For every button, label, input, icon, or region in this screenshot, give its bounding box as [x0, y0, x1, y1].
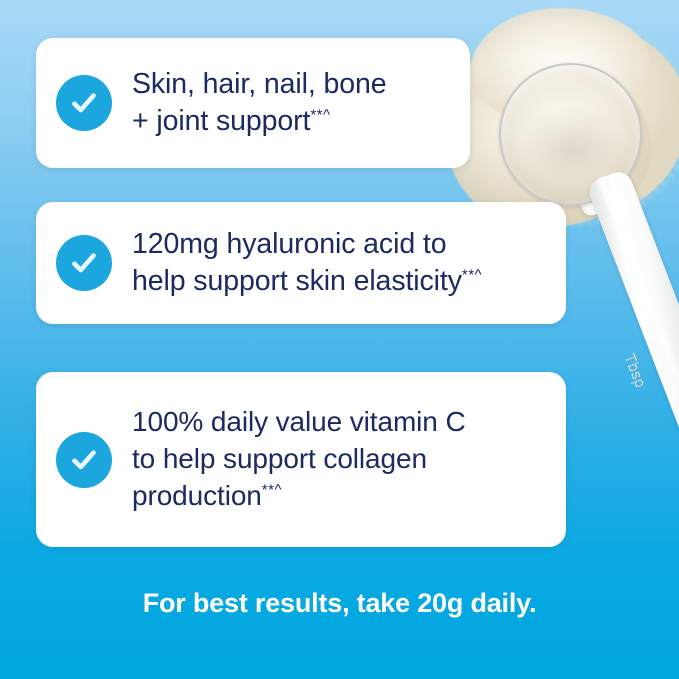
infographic-panel: Tbsp Skin, hair, nail, bone + joint supp… — [0, 0, 679, 679]
dosage-note: For best results, take 20g daily. — [0, 588, 679, 619]
spoon-handle-emboss-label: Tbsp — [621, 351, 650, 390]
check-circle-icon — [56, 75, 112, 131]
powder-mound-highlight — [470, 8, 650, 128]
powder-mound — [452, 18, 679, 218]
powder-texture — [448, 14, 679, 226]
spoon-neck — [564, 146, 628, 218]
benefit-text: Skin, hair, nail, bone + joint support**… — [132, 66, 400, 141]
benefit-superscript: **^ — [262, 482, 282, 499]
benefit-superscript: **^ — [462, 267, 482, 284]
benefit-card: Skin, hair, nail, bone + joint support**… — [36, 38, 470, 168]
benefit-superscript: **^ — [310, 107, 330, 124]
spoon-handle — [585, 168, 679, 492]
benefit-text: 100% daily value vitamin C to help suppo… — [132, 404, 480, 514]
check-circle-icon — [56, 432, 112, 488]
check-circle-icon — [56, 235, 112, 291]
spoon-bowl-icon — [499, 63, 642, 206]
benefit-card: 100% daily value vitamin C to help suppo… — [36, 372, 566, 547]
benefit-text: 120mg hyaluronic acid to help support sk… — [132, 226, 496, 301]
benefit-text-body: Skin, hair, nail, bone + joint support — [132, 68, 386, 137]
benefit-card: 120mg hyaluronic acid to help support sk… — [36, 202, 566, 324]
benefit-text-body: 100% daily value vitamin C to help suppo… — [132, 406, 466, 510]
benefit-text-body: 120mg hyaluronic acid to help support sk… — [132, 228, 462, 297]
